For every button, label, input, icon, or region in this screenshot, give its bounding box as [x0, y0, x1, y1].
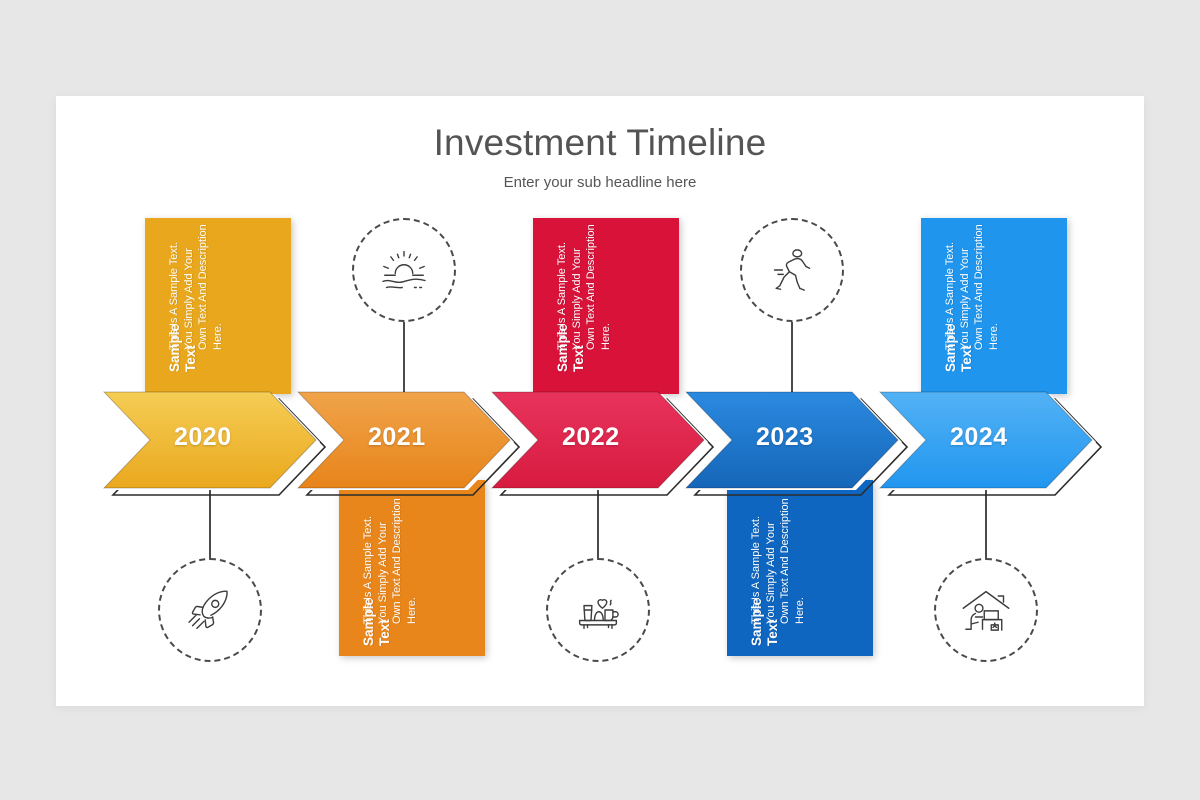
panel-body: This Is A Sample Text. You Simply Add Yo… [361, 498, 419, 624]
panel-body: This Is A Sample Text. You Simply Add Yo… [167, 224, 225, 350]
connector-line-2021 [403, 322, 405, 396]
breakfast-icon [546, 558, 650, 662]
year-label: 2022 [562, 423, 620, 452]
step-panel-2020: Sample TextThis Is A Sample Text. You Si… [145, 218, 291, 394]
panel-body: This Is A Sample Text. You Simply Add Yo… [749, 498, 807, 624]
year-label: 2024 [950, 423, 1008, 452]
panel-heading: Sample Text [167, 356, 198, 372]
slide-card: Investment Timeline Enter your sub headl… [56, 96, 1144, 706]
panel-heading: Sample Text [555, 356, 586, 372]
panel-heading: Sample Text [749, 630, 780, 646]
rocket-icon [158, 558, 262, 662]
step-panel-2022: Sample TextThis Is A Sample Text. You Si… [533, 218, 679, 394]
page-subtitle: Enter your sub headline here [56, 174, 1144, 191]
timeline-step-2024[interactable]: 2024 [880, 390, 1122, 500]
step-panel-2021: Sample TextThis Is A Sample Text. You Si… [339, 480, 485, 656]
panel-heading: Sample Text [361, 630, 392, 646]
panel-body: This Is A Sample Text. You Simply Add Yo… [943, 224, 1001, 350]
connector-line-2023 [791, 322, 793, 396]
year-label: 2020 [174, 423, 232, 452]
year-label: 2021 [368, 423, 426, 452]
sunrise-icon [352, 218, 456, 322]
home-office-icon [934, 558, 1038, 662]
page-title: Investment Timeline [56, 122, 1144, 164]
panel-body: This Is A Sample Text. You Simply Add Yo… [555, 224, 613, 350]
step-panel-2023: Sample TextThis Is A Sample Text. You Si… [727, 480, 873, 656]
step-panel-2024: Sample TextThis Is A Sample Text. You Si… [921, 218, 1067, 394]
slide-canvas: Investment Timeline Enter your sub headl… [0, 0, 1200, 800]
runner-icon [740, 218, 844, 322]
panel-heading: Sample Text [943, 356, 974, 372]
year-label: 2023 [756, 423, 814, 452]
